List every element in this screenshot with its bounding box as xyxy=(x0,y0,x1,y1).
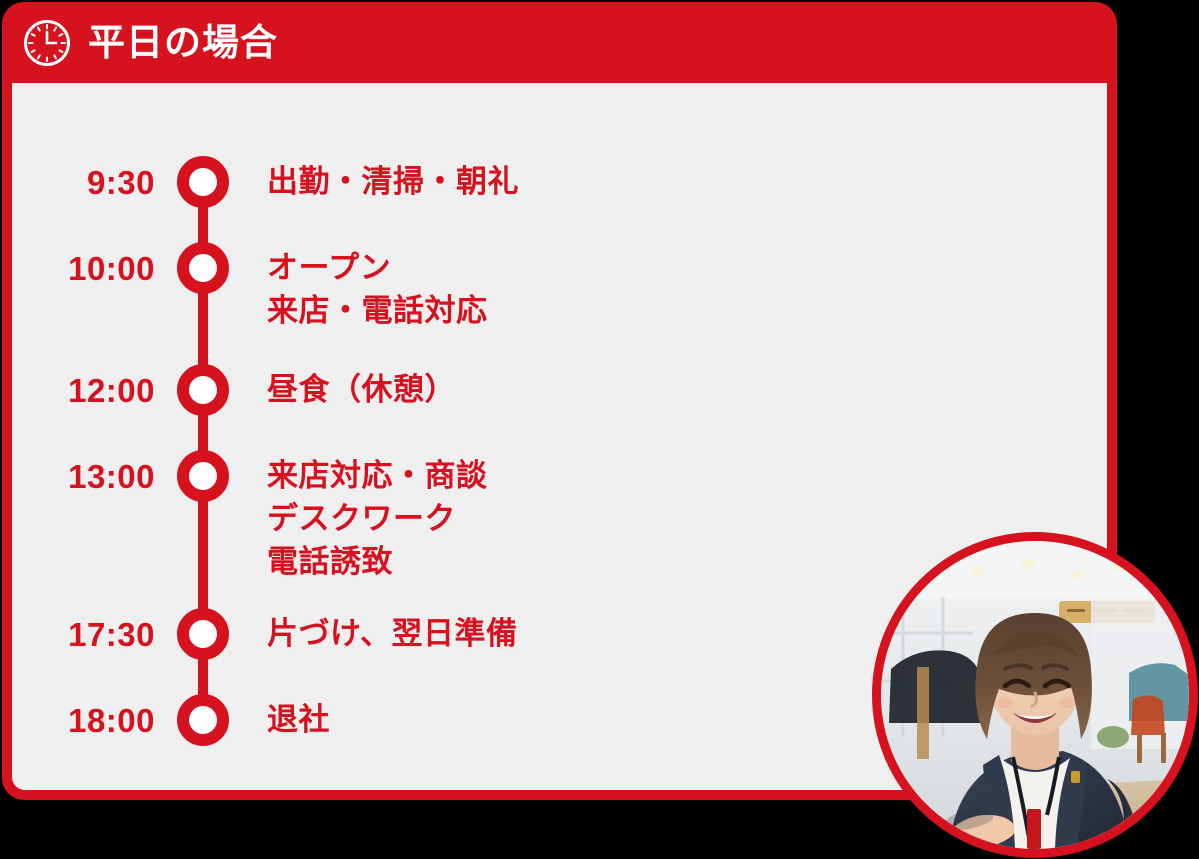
card-header: 平日の場合 xyxy=(2,2,1117,83)
timeline-description-1: オープン 来店・電話対応 xyxy=(267,247,488,333)
timeline-time-5: 18:00 xyxy=(12,704,155,737)
timeline-dot-1 xyxy=(177,242,229,294)
timeline-time-4: 17:30 xyxy=(12,618,155,651)
staff-photo-bubble xyxy=(872,532,1198,858)
timeline-time-2: 12:00 xyxy=(12,374,155,407)
screenshot-root: 平日の場合 9:30出勤・清掃・朝礼10:00オープン 来店・電話対応12:00… xyxy=(0,0,1199,859)
timeline-dot-5 xyxy=(177,694,229,746)
timeline-dot-2 xyxy=(177,364,229,416)
timeline-dot-0 xyxy=(177,156,229,208)
card-title: 平日の場合 xyxy=(88,24,278,61)
timeline-time-3: 13:00 xyxy=(12,460,155,493)
timeline-description-4: 片づけ、翌日準備 xyxy=(267,613,517,656)
timeline-description-5: 退社 xyxy=(267,699,330,742)
timeline-description-2: 昼食（休憩） xyxy=(267,369,456,412)
timeline-time-0: 9:30 xyxy=(12,166,155,199)
clock-icon xyxy=(22,18,72,68)
staff-portrait-illustration xyxy=(881,541,1189,849)
timeline-description-3: 来店対応・商談 デスクワーク 電話誘致 xyxy=(267,455,488,583)
staff-photo xyxy=(881,541,1189,849)
timeline-time-1: 10:00 xyxy=(12,252,155,285)
timeline-dot-4 xyxy=(177,608,229,660)
timeline-dot-3 xyxy=(177,450,229,502)
timeline-description-0: 出勤・清掃・朝礼 xyxy=(267,161,519,204)
